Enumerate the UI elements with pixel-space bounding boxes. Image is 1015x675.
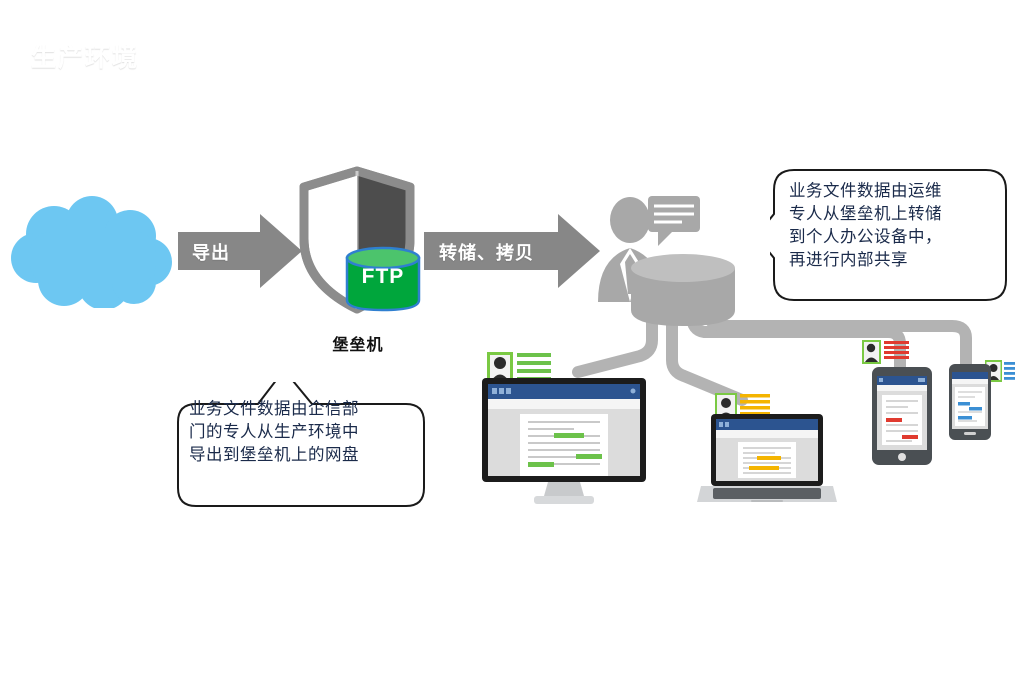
ftp-label: FTP — [344, 265, 422, 289]
transfer-arrow-label: 转储、拷贝 — [439, 239, 534, 265]
export-arrow-label: 导出 — [192, 239, 230, 265]
user-card-tablet — [862, 339, 910, 365]
cloud-label: 生产环境 — [0, 38, 170, 74]
callout-right-text: 业务文件数据由运维 专人从堡垒机上转储 到个人办公设备中， 再进行内部共享 — [789, 180, 994, 272]
diagram-canvas: 生产环境 导出 FTP 堡垒机 转储、拷贝 — [0, 0, 1015, 675]
tablet-icon — [872, 367, 932, 465]
laptop-icon — [697, 414, 837, 508]
desktop-monitor-icon — [478, 376, 650, 508]
personal-device-hub-icon — [628, 252, 738, 330]
connection-pipes — [0, 0, 1015, 675]
callout-left-text: 业务文件数据由企信部 门的专人从生产环境中 导出到堡垒机上的网盘 — [189, 398, 413, 467]
smartphone-icon — [949, 364, 991, 440]
